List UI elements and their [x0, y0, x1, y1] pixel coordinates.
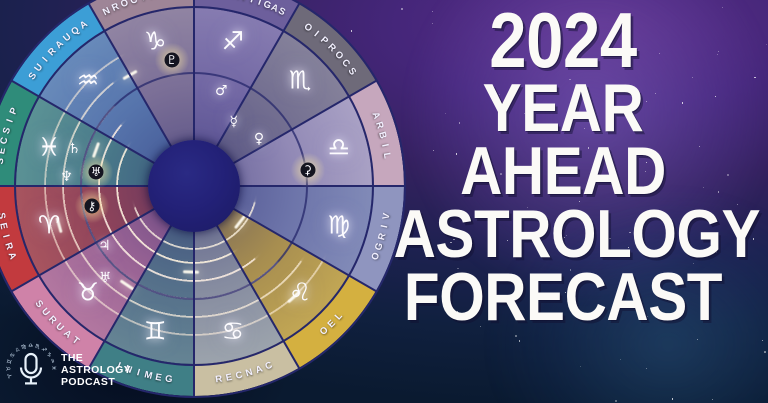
- planet-disc: [84, 198, 99, 213]
- planet-halo: [291, 153, 325, 187]
- sign-glyph-capricorn: ♑: [144, 29, 166, 54]
- planet-halo: [155, 43, 189, 77]
- planet-glyph-uranus: ♅: [91, 166, 102, 178]
- planet-glyph-chiron: ⚷: [87, 200, 96, 212]
- zodiac-mini-glyph: ♎: [28, 344, 33, 350]
- planet-glyph-uranus: ♅: [99, 271, 112, 285]
- sign-glyph-aries: ♈: [38, 212, 60, 237]
- zodiac-mini-glyph: ♒: [48, 358, 55, 364]
- title-line-astrology: ASTROLOGY: [394, 203, 733, 266]
- title-line-year: 2024: [394, 4, 733, 77]
- planet-disc: [300, 163, 315, 178]
- planet-disc: [89, 165, 104, 180]
- logo-line-the: THE: [61, 352, 131, 364]
- microphone-icon: ♈♉♊♋♌♍♎♏♐♑♒♓: [8, 345, 54, 395]
- zodiac-wheel: ARIESTAURUSGEMINICANCERLEOVIRGOLIBRASCOR…: [0, 0, 404, 396]
- zodiac-mini-glyph: ♍: [21, 345, 27, 352]
- title-line-forecast: FORECAST: [394, 266, 733, 329]
- sign-glyph-taurus: ♉: [77, 280, 99, 305]
- sign-glyph-aquarius: ♒: [77, 67, 99, 92]
- page-title: 2024 YEAR AHEAD ASTROLOGY FORECAST: [394, 4, 733, 329]
- zodiac-mini-glyph: ♈: [8, 372, 15, 379]
- zodiac-mini-glyph: ♉: [7, 366, 13, 371]
- sign-glyph-leo: ♌: [289, 280, 311, 305]
- brand-logo[interactable]: ♈♉♊♋♌♍♎♏♐♑♒♓ THE ASTROLOGY PODCAST: [8, 345, 131, 395]
- planet-disc: [164, 53, 179, 68]
- zodiac-mini-glyph: ♓: [49, 366, 55, 371]
- planet-glyph-saturn: ♄: [68, 142, 81, 156]
- planet-halo: [79, 155, 113, 189]
- planet-glyph-venus: ♀: [254, 132, 264, 146]
- sign-glyph-cancer: ♋: [222, 318, 244, 343]
- logo-line-astrology: ASTROLOGY: [61, 364, 131, 376]
- logo-line-podcast: PODCAST: [61, 376, 131, 388]
- sign-glyph-gemini: ♊: [144, 318, 166, 343]
- brand-name: THE ASTROLOGY PODCAST: [61, 352, 131, 389]
- sign-glyph-pisces: ♓: [38, 135, 60, 160]
- zodiac-mini-glyph: ♊: [8, 359, 15, 365]
- sign-glyph-libra: ♎: [328, 135, 350, 160]
- planet-glyph-neptune: ♆: [60, 170, 73, 184]
- planet-glyph-jupiter: ♃: [98, 239, 111, 253]
- sign-glyph-sagittarius: ♐: [222, 29, 244, 54]
- planet-glyph-mercury: ☿: [229, 115, 238, 129]
- wheel-hub: [148, 140, 240, 232]
- thumbnail-canvas: ARIESTAURUSGEMINICANCERLEOVIRGOLIBRASCOR…: [0, 0, 768, 403]
- planet-halo: [75, 189, 109, 223]
- planet-glyph-pluto: ♇: [166, 54, 177, 66]
- planet-glyph-ceres: ⚳: [303, 164, 312, 176]
- planet-glyph-mars: ♂: [215, 84, 228, 98]
- sign-glyph-virgo: ♍: [328, 212, 350, 237]
- sign-glyph-scorpio: ♏: [289, 67, 311, 92]
- title-line-year-ahead: YEAR AHEAD: [394, 77, 733, 203]
